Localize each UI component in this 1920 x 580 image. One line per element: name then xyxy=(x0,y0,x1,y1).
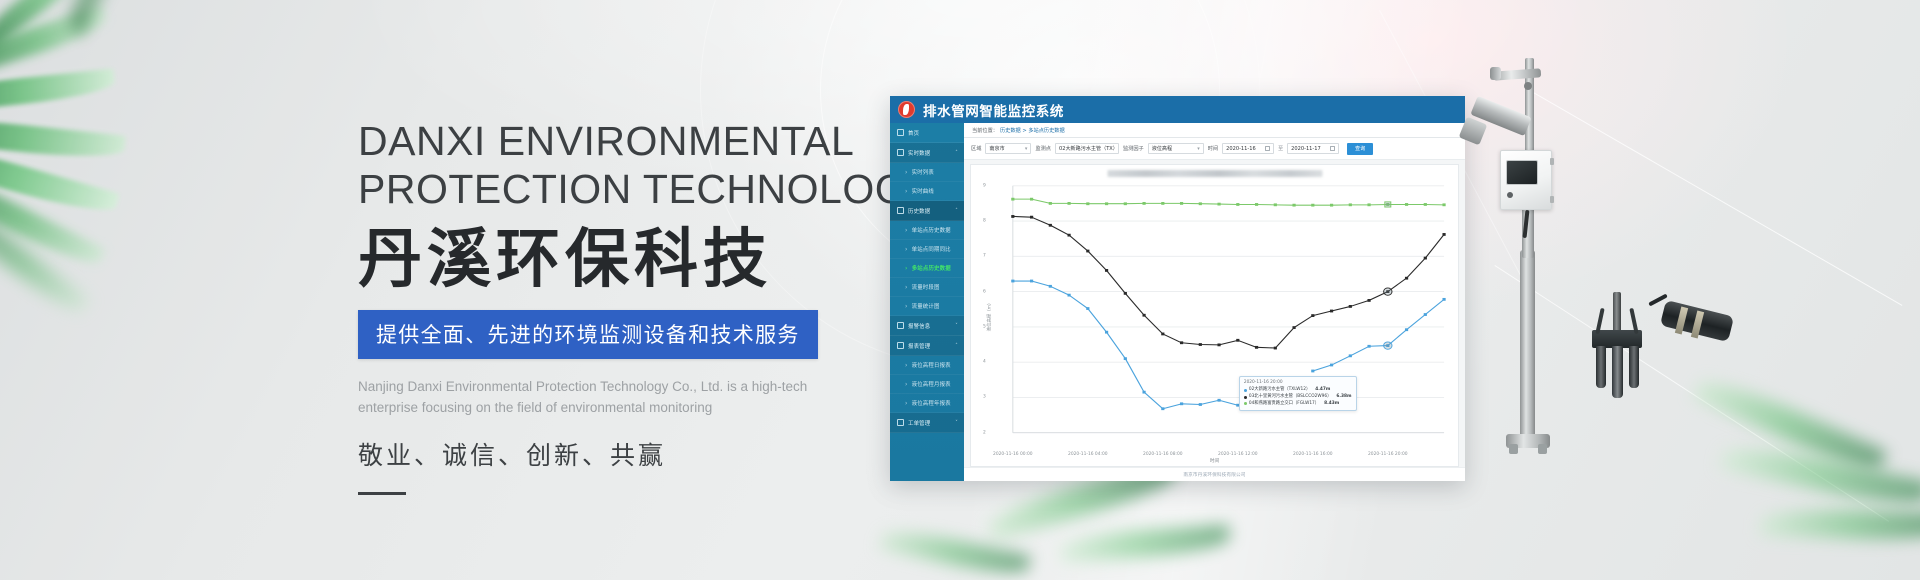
history-chart-icon xyxy=(897,207,904,214)
shield-logo-icon xyxy=(898,101,915,118)
chart-x-tick: 2020-11-16 00:00 xyxy=(993,452,1033,457)
chevron-toggle-icon: ˅ xyxy=(955,420,958,426)
chart-y-tick: 5 xyxy=(983,324,986,329)
hero-en-paragraph: Nanjing Danxi Environmental Protection T… xyxy=(358,377,863,419)
tooltip-row: 02大新路污水主管（TXLW12）4.47m xyxy=(1244,387,1352,394)
sidebar-subitem-实时曲线[interactable]: 实时曲线 xyxy=(890,182,964,201)
app-title: 排水管网智能监控系统 xyxy=(923,100,1064,120)
date-separator: 至 xyxy=(1278,145,1283,152)
sensor-probe-electrode-left xyxy=(1596,346,1606,388)
sidebar-item-工单管理[interactable]: 工单管理˅ xyxy=(890,413,964,433)
tooltip-row: 04和燕路富贵路立交口（FGLW17）8.43m xyxy=(1244,401,1352,408)
sidebar-subitem-单站点同期同比[interactable]: 单站点同期同比 xyxy=(890,240,964,259)
sidebar-subitem-多站点历史数据[interactable]: 多站点历史数据 xyxy=(890,259,964,278)
station-select[interactable]: 02大新路污水主管（TX） ▾ xyxy=(1055,143,1119,154)
factor-select[interactable]: 液位高程 ▾ xyxy=(1148,143,1204,154)
chart-y-tick: 3 xyxy=(983,395,986,400)
station-select-value: 02大新路污水主管（TX） xyxy=(1059,145,1118,152)
sidebar-subitem-液位高程日报表[interactable]: 液位高程日报表 xyxy=(890,356,964,375)
date-from-input[interactable]: 2020-11-16 xyxy=(1222,143,1274,154)
sensor-probe-electrode-right xyxy=(1629,346,1639,388)
chart-title-placeholder xyxy=(1107,170,1322,177)
calendar-icon xyxy=(1265,146,1270,151)
sidebar-item-label: 报表管理 xyxy=(908,342,930,350)
sidebar-subitem-实时列表[interactable]: 实时列表 xyxy=(890,163,964,182)
chart-y-tick: 8 xyxy=(983,219,986,224)
app-footer: 南京市丹溪环保科技有限公司 xyxy=(964,467,1465,481)
pole-joint-bolt xyxy=(1524,82,1532,90)
chart-card: 液位高程（m） 时间 234567892020-11-16 00:002020-… xyxy=(970,164,1459,467)
tooltip-series-dot xyxy=(1244,396,1247,399)
sidebar-item-label: 历史数据 xyxy=(908,207,930,215)
chart-y-tick: 2 xyxy=(983,430,986,435)
chart-tooltip: 2020-11-16 20:0002大新路污水主管（TXLW12）4.47m03… xyxy=(1239,376,1357,412)
sidebar-subitem-label: 单站点同期同比 xyxy=(912,245,951,253)
cabinet-hinge-bottom xyxy=(1550,196,1554,203)
breadcrumb-label: 当前位置： xyxy=(972,127,998,134)
sidebar: 首页实时数据˄实时列表实时曲线历史数据˄单站点历史数据单站点同期同比多站点历史数… xyxy=(890,123,964,481)
cross-arm-end-cap xyxy=(1490,67,1501,80)
sidebar-item-报警信息[interactable]: 报警信息˅ xyxy=(890,316,964,336)
chart-y-tick: 7 xyxy=(983,254,986,259)
app-header: 排水管网智能监控系统 xyxy=(890,96,1465,123)
tooltip-series-name: 04和燕路富贵路立交口（FGLW17） xyxy=(1249,401,1319,408)
sidebar-subitem-液位高程月报表[interactable]: 液位高程月报表 xyxy=(890,375,964,394)
breadcrumb-value: 历史数据 > 多站点历史数据 xyxy=(1000,127,1065,134)
monitoring-pole-lower xyxy=(1520,250,1535,440)
calendar-icon xyxy=(1330,146,1335,151)
tooltip-row: 03北十里黄河污水主管（BSLCCO2W96）6.38m xyxy=(1244,394,1352,401)
chart-x-tick: 2020-11-16 12:00 xyxy=(1218,452,1258,457)
monitoring-app-window: 排水管网智能监控系统 首页实时数据˄实时列表实时曲线历史数据˄单站点历史数据单站… xyxy=(890,96,1465,481)
sensor-probe-stem xyxy=(1613,292,1621,334)
chart-x-tick: 2020-11-16 08:00 xyxy=(1143,452,1183,457)
sidebar-item-首页[interactable]: 首页 xyxy=(890,123,964,143)
hero-rule-divider xyxy=(358,492,406,495)
query-button[interactable]: 查询 xyxy=(1347,143,1373,155)
chevron-toggle-icon: ˄ xyxy=(955,208,958,214)
ticket-icon xyxy=(897,419,904,426)
cabinet-indicator xyxy=(1507,192,1513,198)
hero-en-line-2: PROTECTION TECHNOLOGY xyxy=(358,166,918,214)
home-icon xyxy=(897,129,904,136)
sidebar-subitem-液位高程年报表[interactable]: 液位高程年报表 xyxy=(890,394,964,413)
sidebar-item-label: 报警信息 xyxy=(908,322,930,330)
chart-x-tick: 2020-11-16 20:00 xyxy=(1368,452,1408,457)
cabinet-display-screen xyxy=(1506,160,1538,185)
tooltip-time: 2020-11-16 20:00 xyxy=(1244,380,1352,387)
tooltip-series-value: 6.38m xyxy=(1336,394,1351,401)
sidebar-subitem-label: 流量时段图 xyxy=(912,283,940,291)
chart-y-tick: 4 xyxy=(983,360,986,365)
factor-select-value: 液位高程 xyxy=(1152,145,1172,152)
sidebar-subitem-流量时段图[interactable]: 流量时段图 xyxy=(890,278,964,297)
tooltip-series-dot xyxy=(1244,389,1247,392)
sidebar-subitem-label: 流量统计图 xyxy=(912,302,940,310)
sidebar-item-label: 工单管理 xyxy=(908,419,930,427)
sidebar-item-label: 实时数据 xyxy=(908,149,930,157)
date-to-input[interactable]: 2020-11-17 xyxy=(1287,143,1339,154)
hero-text-block: DANXI ENVIRONMENTAL PROTECTION TECHNOLOG… xyxy=(358,118,918,495)
chart-svg xyxy=(971,177,1458,466)
sidebar-item-历史数据[interactable]: 历史数据˄ xyxy=(890,201,964,221)
sidebar-item-label: 首页 xyxy=(908,129,919,137)
cabinet-hinge-top xyxy=(1550,158,1554,165)
chevron-toggle-icon: ˅ xyxy=(955,323,958,329)
time-label: 时间 xyxy=(1208,145,1218,152)
breadcrumb: 当前位置： 历史数据 > 多站点历史数据 xyxy=(964,123,1465,138)
date-from-value: 2020-11-16 xyxy=(1226,146,1256,152)
chevron-toggle-icon: ˄ xyxy=(955,150,958,156)
pole-base-foot-left xyxy=(1509,444,1518,454)
hero-cn-slogan: 敬业、诚信、创新、共赢 xyxy=(358,436,918,472)
chart-x-tick: 2020-11-16 16:00 xyxy=(1293,452,1333,457)
chart-y-tick: 6 xyxy=(983,289,986,294)
region-label: 区域 xyxy=(971,145,981,152)
chart-x-axis-label: 时间 xyxy=(1210,458,1219,464)
chart-y-tick: 9 xyxy=(983,183,986,188)
sensor-probe-electrode-center xyxy=(1612,346,1623,398)
hero-en-line-1: DANXI ENVIRONMENTAL xyxy=(358,118,918,166)
sidebar-subitem-流量统计图[interactable]: 流量统计图 xyxy=(890,297,964,316)
chevron-down-icon: ▾ xyxy=(1021,146,1028,152)
sidebar-subitem-label: 多站点历史数据 xyxy=(912,264,951,272)
chevron-down-icon: ▾ xyxy=(1193,146,1200,152)
sidebar-subitem-label: 液位高程年报表 xyxy=(912,399,951,407)
chevron-toggle-icon: ˄ xyxy=(955,343,958,349)
region-select-value: 南京市 xyxy=(989,145,1004,152)
station-label: 监测点 xyxy=(1035,145,1051,152)
line-chart: 液位高程（m） 时间 234567892020-11-16 00:002020-… xyxy=(971,177,1458,466)
content-area: 当前位置： 历史数据 > 多站点历史数据 区域 南京市 ▾ 监测点 02大新路污… xyxy=(964,123,1465,481)
date-to-value: 2020-11-17 xyxy=(1291,146,1321,152)
factor-label: 监测因子 xyxy=(1123,145,1144,152)
tooltip-series-name: 02大新路污水主管（TXLW12） xyxy=(1249,387,1310,394)
sidebar-subitem-label: 实时列表 xyxy=(912,168,934,176)
realtime-icon xyxy=(897,149,904,156)
bell-icon xyxy=(897,322,904,329)
tooltip-series-dot xyxy=(1244,402,1247,405)
sidebar-subitem-label: 液位高程日报表 xyxy=(912,361,951,369)
filter-bar: 区域 南京市 ▾ 监测点 02大新路污水主管（TX） ▾ 监测因子 液位高程 ▾… xyxy=(964,138,1465,160)
tooltip-series-value: 4.47m xyxy=(1315,387,1330,394)
report-icon xyxy=(897,342,904,349)
sidebar-item-报表管理[interactable]: 报表管理˄ xyxy=(890,336,964,356)
tooltip-series-value: 8.43m xyxy=(1324,401,1339,408)
sidebar-subitem-label: 单站点历史数据 xyxy=(912,226,951,234)
region-select[interactable]: 南京市 ▾ xyxy=(985,143,1031,154)
sidebar-item-实时数据[interactable]: 实时数据˄ xyxy=(890,143,964,163)
chart-y-axis-label: 液位高程（m） xyxy=(986,300,992,331)
chevron-down-icon: ▾ xyxy=(1118,146,1119,152)
pole-base-foot-right xyxy=(1538,444,1547,454)
sidebar-subitem-label: 液位高程月报表 xyxy=(912,380,951,388)
tooltip-series-name: 03北十里黄河污水主管（BSLCCO2W96） xyxy=(1249,394,1332,401)
equipment-photo-group xyxy=(1480,20,1780,480)
sidebar-subitem-label: 实时曲线 xyxy=(912,187,934,195)
hero-tagline-banner: 提供全面、先进的环境监测设备和技术服务 xyxy=(358,310,818,359)
sidebar-subitem-单站点历史数据[interactable]: 单站点历史数据 xyxy=(890,221,964,240)
hero-cn-title: 丹溪环保科技 xyxy=(358,223,918,297)
chart-x-tick: 2020-11-16 04:00 xyxy=(1068,452,1108,457)
